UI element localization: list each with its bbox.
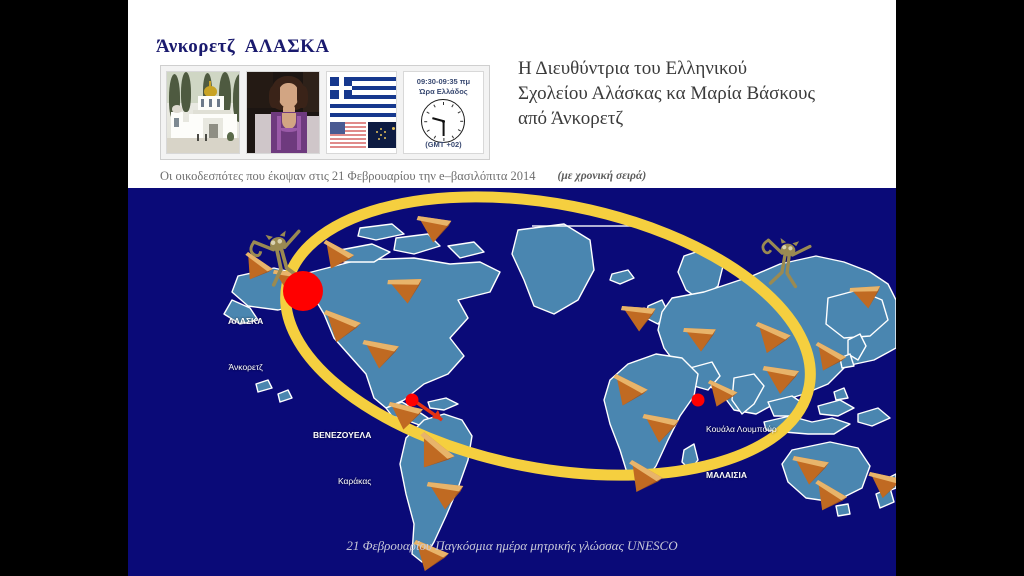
map-label-malaysia-country: ΜΑΛΑΙΣΙΑ <box>706 470 777 480</box>
greece-flag-icon <box>330 77 397 117</box>
greece-clock-panel: 09:30-09:35 πμ Ώρα Ελλάδος <box>403 71 484 154</box>
map-label-alaska-city: Άνκορετζ <box>228 362 263 372</box>
clock-minute-hand <box>443 121 445 136</box>
map-label-venezuela-country: ΒΕΝΕΖΟΥΕΛΑ <box>313 430 371 440</box>
church-photo <box>166 71 240 154</box>
page-title: Άνκορετζ ΑΛΑΣΚΑ <box>156 36 330 58</box>
subtitle-row: Οι οικοδεσπότες που έκοψαν στις 21 Φεβρο… <box>128 164 896 188</box>
marker-malaysia <box>692 394 705 407</box>
marker-venezuela <box>406 394 419 407</box>
subtitle-text: Οι οικοδεσπότες που έκοψαν στις 21 Φεβρο… <box>160 169 536 184</box>
woman-portrait <box>246 71 320 154</box>
clock-center-pin <box>442 120 445 123</box>
slide-description: Η Διευθύντρια του Ελληνικού Σχολείου Αλά… <box>518 56 878 131</box>
analog-clock-icon <box>421 99 465 143</box>
usa-flag-icon <box>330 122 366 148</box>
clock-zone-label: Ώρα Ελλάδος <box>404 87 483 96</box>
clock-time-range: 09:30-09:35 πμ <box>404 77 483 86</box>
alaska-flag-icon <box>368 122 397 148</box>
marker-alaska <box>283 271 323 311</box>
map-label-malaysia: Κουάλα Λουμπούρ ΜΑΛΑΙΣΙΑ <box>706 388 777 516</box>
map-label-venezuela: ΒΕΝΕΖΟΥΕΛΑ Καράκας <box>313 394 371 522</box>
bottom-caption: 21 Φεβρουαρίου Παγκόσμια ημέρα μητρικής … <box>128 538 896 554</box>
map-label-alaska: ΑΛΑΣΚΑ Άνκορετζ <box>228 280 263 408</box>
flags-panel <box>326 71 397 154</box>
world-map-panel: ΑΛΑΣΚΑ Άνκορετζ ΒΕΝΕΖΟΥΕΛΑ Καράκας Κουάλ… <box>128 188 896 576</box>
subtitle-note: (με χρονική σειρά) <box>558 170 647 182</box>
map-label-malaysia-city: Κουάλα Λουμπούρ <box>706 424 777 434</box>
thumbnail-strip: 09:30-09:35 πμ Ώρα Ελλάδος <box>160 65 490 160</box>
map-label-venezuela-city: Καράκας <box>313 476 371 486</box>
clock-gmt-offset: (GMT +02) <box>404 140 483 149</box>
header-panel: Άνκορετζ ΑΛΑΣΚΑ <box>128 0 896 188</box>
map-label-alaska-country: ΑΛΑΣΚΑ <box>228 316 263 326</box>
slide-canvas: Άνκορετζ ΑΛΑΣΚΑ <box>0 0 1024 576</box>
